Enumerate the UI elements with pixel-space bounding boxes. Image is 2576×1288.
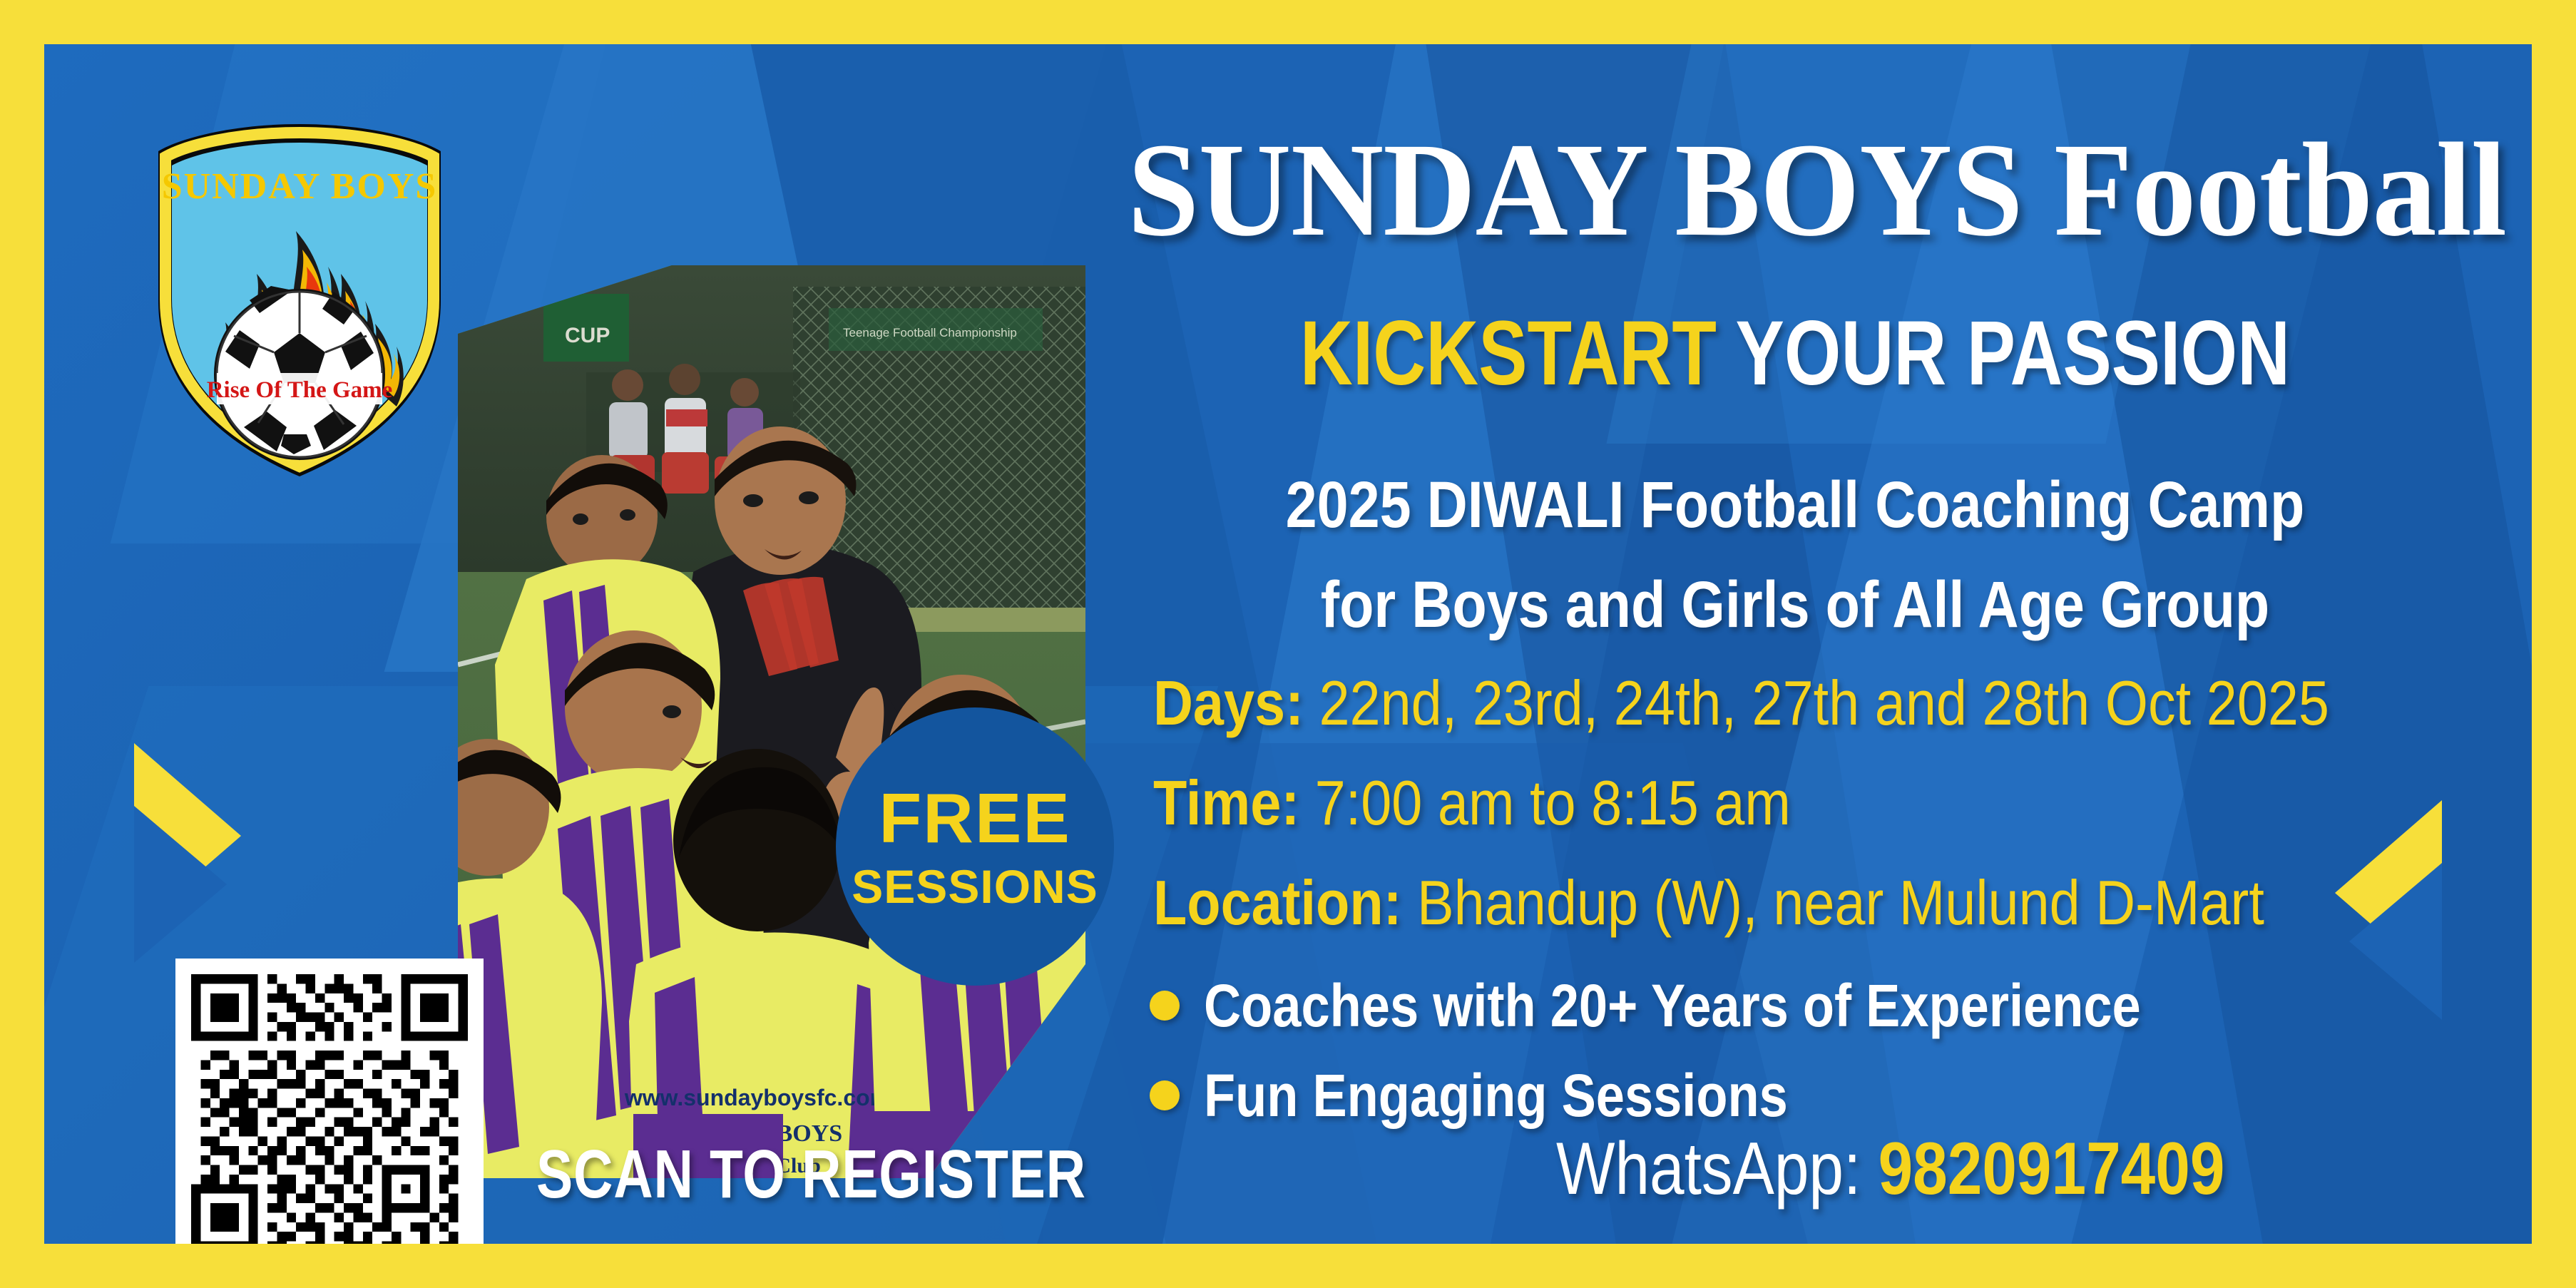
detail-time-value: 7:00 am to 8:15 am [1299,767,1791,838]
detail-location: Location: Bhandup (W), near Mulund D-Mar… [1153,872,2346,934]
bullet-dot-icon [1150,991,1180,1021]
tagline-highlight: KICKSTART [1300,302,1717,404]
flyer-poster: Rise Of The Game SUNDAY BOYS [0,0,2576,1288]
whatsapp-label: WhatsApp: [1556,1128,1879,1210]
chevron-right-notch [2349,863,2442,1020]
whatsapp-contact[interactable]: WhatsApp: 9820917409 [1556,1132,2224,1206]
crest-club-name-text: SUNDAY BOYS [162,166,438,207]
free-badge-line1: FREE [879,783,1070,853]
scan-to-register-label: SCAN TO REGISTER [536,1135,1086,1214]
tagline: KICKSTART YOUR PASSION [1239,308,2351,399]
jersey-website-text: www.sundayboysfc.com [624,1085,890,1110]
bullet-dot-icon [1150,1080,1180,1110]
list-item: Coaches with 20+ Years of Experience [1150,976,2294,1036]
poster-inner-panel: Rise Of The Game SUNDAY BOYS [44,44,2532,1244]
bullet-text-2: Fun Engaging Sessions [1204,1065,1788,1125]
detail-time: Time: 7:00 am to 8:15 am [1153,772,2346,834]
page-title: SUNDAY BOYS Football Club [1128,123,2463,257]
detail-time-label: Time: [1153,767,1299,838]
bullet-text-1: Coaches with 20+ Years of Experience [1204,976,2141,1036]
subheading-1: 2025 DIWALI Football Coaching Camp [1197,472,2393,538]
detail-days-value: 22nd, 23rd, 24th, 27th and 28th Oct 2025 [1304,668,2329,738]
content-column: SUNDAY BOYS Football Club KICKSTART YOUR… [1071,44,2490,1244]
free-badge-line2: SESSIONS [852,863,1098,910]
detail-days: Days: 22nd, 23rd, 24th, 27th and 28th Oc… [1153,672,2346,735]
chevron-left-notch [134,806,227,963]
crest-motto-text: Rise Of The Game [207,377,393,403]
detail-location-label: Location: [1153,867,1401,938]
club-crest-logo: Rise Of The Game SUNDAY BOYS [150,121,449,478]
list-item: Fun Engaging Sessions [1150,1065,1883,1125]
subheading-2: for Boys and Girls of All Age Group [1197,572,2393,638]
tagline-rest: YOUR PASSION [1717,302,2290,404]
detail-location-value: Bhandup (W), near Mulund D-Mart [1401,867,2264,938]
svg-text:CUP: CUP [565,324,610,347]
detail-days-label: Days: [1153,668,1304,738]
svg-text:Teenage Football Championship: Teenage Football Championship [843,326,1017,339]
whatsapp-number: 9820917409 [1879,1128,2225,1210]
qr-code[interactable] [175,959,484,1244]
